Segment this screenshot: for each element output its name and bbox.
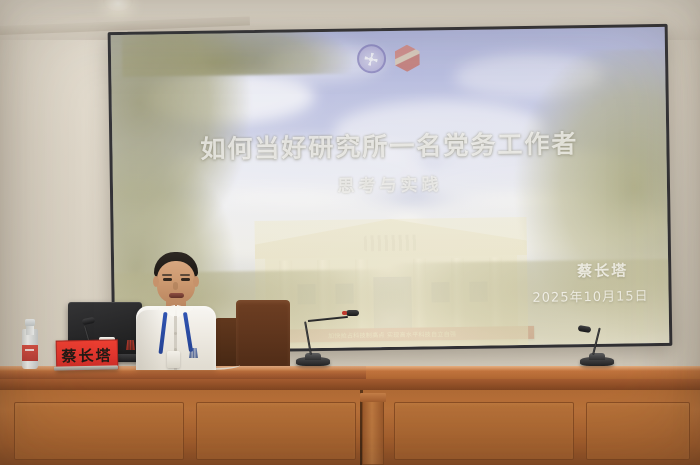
desk-panel bbox=[196, 402, 356, 460]
mic-gooseneck bbox=[304, 321, 312, 355]
eyebrow bbox=[162, 274, 172, 276]
eyebrow bbox=[180, 274, 190, 276]
mic-indicator-light bbox=[342, 311, 347, 315]
microphone[interactable] bbox=[566, 318, 626, 366]
mic-head bbox=[578, 325, 592, 333]
desk-panel bbox=[14, 402, 184, 460]
mic-arm bbox=[308, 316, 348, 322]
speaker-person bbox=[128, 252, 224, 370]
bottle-neck bbox=[26, 325, 34, 335]
desk-panel bbox=[586, 402, 690, 460]
slide-date: 2025年10月15日 bbox=[532, 285, 648, 306]
ceiling-light bbox=[103, 0, 133, 11]
ear bbox=[153, 276, 159, 287]
mic-head bbox=[82, 317, 96, 326]
bottle-label bbox=[22, 345, 38, 361]
desk-front-panel bbox=[0, 390, 700, 465]
mic-gooseneck bbox=[592, 328, 601, 356]
shirt-button bbox=[174, 332, 177, 335]
id-badge bbox=[167, 351, 180, 368]
cas-emblem-logo-icon bbox=[356, 44, 385, 73]
eye bbox=[163, 278, 172, 281]
presentation-photo: 加快抢占科技制高点 实现高水平科技自立自强 如何当好研究所一名党务工作者 思考与… bbox=[0, 0, 700, 465]
desk-panel bbox=[394, 402, 574, 460]
desk-pilaster-cap bbox=[360, 393, 386, 402]
ear bbox=[193, 276, 199, 287]
mouth bbox=[169, 293, 184, 298]
mic-head bbox=[346, 310, 359, 316]
podium-desk bbox=[0, 366, 700, 465]
microphone[interactable] bbox=[290, 306, 410, 366]
nose bbox=[173, 282, 178, 290]
shirt-pocket-logo-icon bbox=[189, 348, 198, 358]
name-placard-text: 蔡长塔 bbox=[61, 344, 112, 366]
chair bbox=[236, 300, 290, 366]
slide-speaker-name: 蔡长塔 bbox=[577, 259, 628, 281]
bottle-cap bbox=[25, 319, 35, 326]
eye bbox=[181, 278, 190, 281]
desk-pilaster bbox=[362, 393, 384, 465]
water-bottle[interactable] bbox=[22, 319, 38, 369]
hexagon-institute-logo-icon bbox=[394, 45, 419, 72]
mic-body bbox=[305, 353, 321, 360]
shirt-shadow bbox=[136, 310, 162, 370]
